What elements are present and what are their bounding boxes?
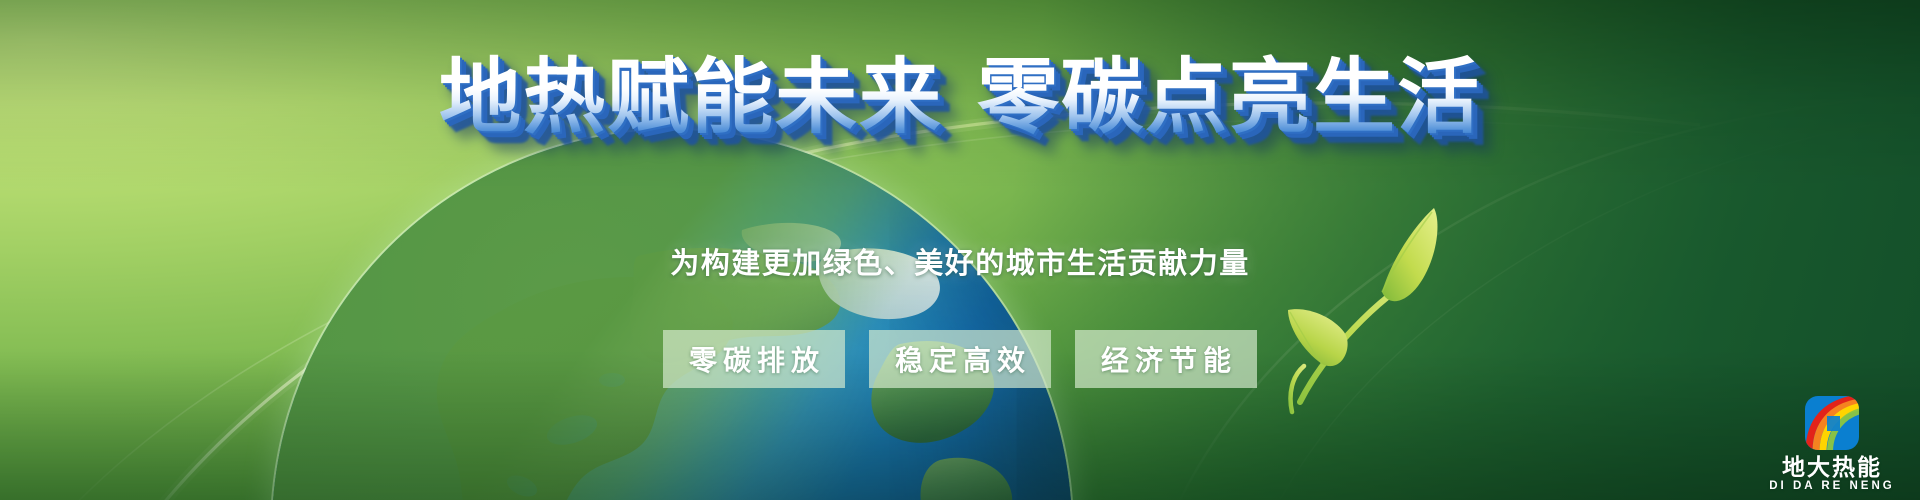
didareneng-rainbow-mark [1803,394,1861,452]
feature-tag-zero-carbon[interactable]: 零碳排放 [663,330,845,388]
feature-tag-economical[interactable]: 经济节能 [1075,330,1257,388]
title-line-2: 零碳点亮生活 [977,52,1481,143]
title-line-1: 地热赋能未来 [439,52,943,143]
logo-name-en: DI DA RE NENG [1769,479,1894,494]
feature-tag-stable-efficient[interactable]: 稳定高效 [869,330,1051,388]
banner-content: 地热赋能未来零碳点亮生活 为构建更加绿色、美好的城市生活贡献力量 零碳排放 稳定… [0,0,1920,500]
banner-subtitle: 为构建更加绿色、美好的城市生活贡献力量 [0,240,1920,282]
company-logo[interactable]: 地大热能 DI DA RE NENG [1762,394,1902,494]
hero-banner: 地热赋能未来零碳点亮生活 为构建更加绿色、美好的城市生活贡献力量 零碳排放 稳定… [0,0,1920,500]
page-title: 地热赋能未来零碳点亮生活 [0,52,1920,144]
feature-tag-list: 零碳排放 稳定高效 经济节能 [0,330,1920,388]
logo-name-cn: 地大热能 [1782,455,1882,479]
